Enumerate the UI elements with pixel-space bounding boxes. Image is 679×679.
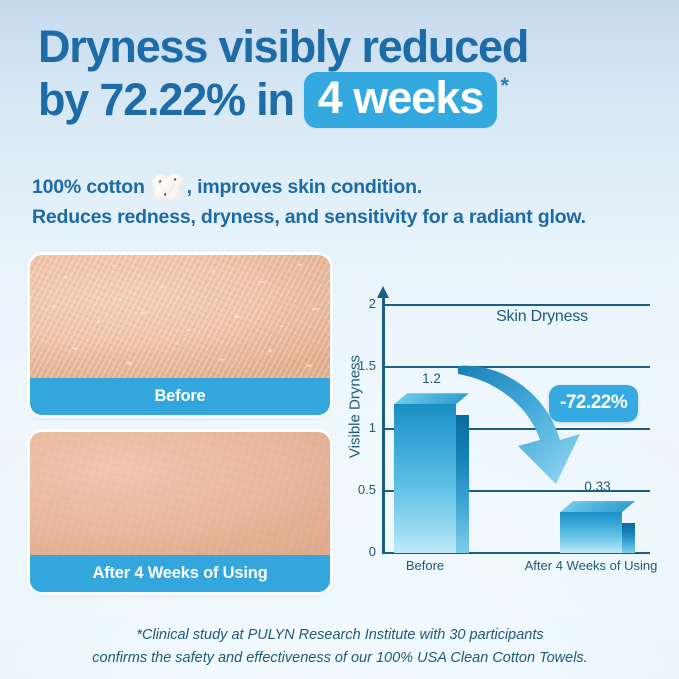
- headline-line-2: by 72.22% in 4 weeks *: [38, 72, 648, 127]
- headline: Dryness visibly reduced by 72.22% in 4 w…: [38, 22, 648, 128]
- after-photo-label: After 4 Weeks of Using: [30, 555, 330, 592]
- cotton-boll-icon: [151, 172, 185, 202]
- dry-skin-texture: [30, 255, 330, 378]
- before-photo-label: Before: [30, 378, 330, 415]
- headline-asterisk: *: [500, 74, 507, 99]
- after-skin-photo: [30, 432, 330, 555]
- before-skin-photo: [30, 255, 330, 378]
- headline-line-2-text: by 72.22% in: [38, 75, 294, 125]
- headline-line-1: Dryness visibly reduced: [38, 22, 648, 72]
- subtitle-line-1b: , improves skin condition.: [187, 172, 422, 202]
- smooth-skin-texture: [30, 432, 330, 555]
- subtitle-line-1a: 100% cotton: [32, 172, 145, 202]
- skin-dryness-chart: Skin Dryness Visible Dryness 00.511.52 1…: [342, 288, 662, 588]
- decrease-arrow-icon: [342, 288, 662, 588]
- subtitle-line-2: Reduces redness, dryness, and sensitivit…: [32, 202, 652, 232]
- footnote-line-1: *Clinical study at PULYN Research Instit…: [40, 624, 640, 647]
- footnote-line-2: confirms the safety and effectiveness of…: [40, 647, 640, 670]
- percent-change-badge: -72.22%: [549, 385, 638, 422]
- promo-infographic: Dryness visibly reduced by 72.22% in 4 w…: [0, 0, 679, 679]
- footnote: *Clinical study at PULYN Research Instit…: [40, 624, 640, 670]
- subtitle: 100% cotton , improves skin condition. R…: [32, 172, 652, 232]
- photo-card-after: After 4 Weeks of Using: [30, 432, 330, 592]
- photo-card-before: Before: [30, 255, 330, 415]
- subtitle-line-1: 100% cotton , improves skin condition.: [32, 172, 652, 202]
- headline-badge-4-weeks: 4 weeks: [304, 72, 498, 127]
